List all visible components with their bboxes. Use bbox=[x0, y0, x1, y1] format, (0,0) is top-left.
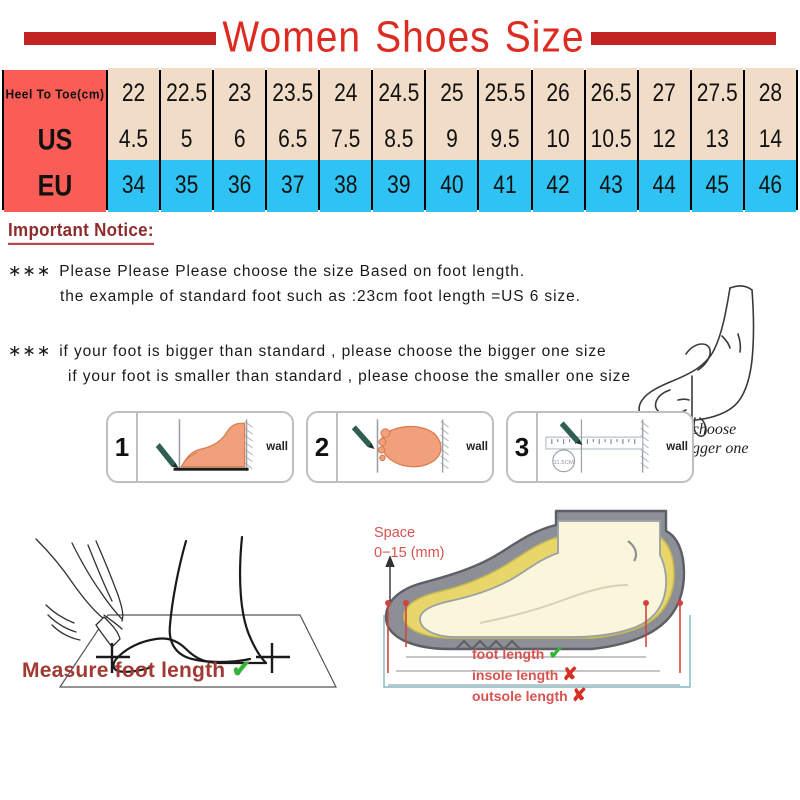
check-icon-foot-length: ✔ bbox=[548, 643, 563, 663]
notice-paragraph-1: ∗∗∗Please Please Please choose the size … bbox=[8, 259, 800, 309]
measurement-steps: 1 wall 2 bbox=[0, 411, 800, 483]
cell-eu-6: 40 bbox=[425, 159, 478, 213]
cell-eu-10: 44 bbox=[638, 159, 691, 213]
title-bar-right bbox=[591, 32, 776, 45]
step-3-illustration: 11.5CM wall bbox=[538, 413, 692, 481]
asterisks-icon-2: ∗∗∗ bbox=[8, 343, 51, 360]
bottom-illustrations: Measure foot length✔ bbox=[0, 497, 800, 712]
notice-line-1: ∗∗∗Please Please Please choose the size … bbox=[8, 259, 800, 284]
step-number-1: 1 bbox=[108, 413, 138, 481]
page-title-word-1: Women bbox=[222, 13, 361, 61]
row-header-heel-to-toe: Heel To Toe(cm) bbox=[3, 69, 107, 120]
cell-eu-3: 37 bbox=[266, 159, 319, 213]
green-check-icon: ✔ bbox=[231, 656, 251, 683]
size-table-wrapper: Heel To Toe(cm) 22 22.5 23 23.5 24 24.5 … bbox=[0, 70, 800, 210]
cross-icon-insole-length: ✘ bbox=[562, 664, 577, 684]
step-number-3: 3 bbox=[508, 413, 538, 481]
foot-length-label: foot length✔ bbox=[472, 643, 587, 664]
step-panel-3: 3 bbox=[506, 411, 694, 483]
cell-eu-11: 45 bbox=[691, 159, 744, 213]
measure-foot-length-caption: Measure foot length✔ bbox=[22, 655, 252, 684]
length-labels: foot length✔ insole length✘ outsole leng… bbox=[472, 643, 587, 706]
notice-paragraph-2: ∗∗∗if your foot is bigger than standard … bbox=[8, 339, 800, 389]
outsole-length-label: outsole length✘ bbox=[472, 685, 587, 706]
cell-eu-5: 39 bbox=[372, 159, 425, 213]
measure-caption-text: Measure foot length bbox=[22, 659, 225, 682]
asterisks-icon: ∗∗∗ bbox=[8, 263, 51, 280]
space-label-line-1: Space bbox=[374, 523, 445, 543]
step-number-2: 2 bbox=[308, 413, 338, 481]
page-title: WomenShoesSize bbox=[222, 13, 584, 62]
notice-line-3: ∗∗∗if your foot is bigger than standard … bbox=[8, 339, 800, 364]
cell-eu-0: 34 bbox=[107, 159, 160, 213]
notice-line-1-text: Please Please Please choose the size Bas… bbox=[59, 263, 525, 280]
wall-label-2: wall bbox=[466, 441, 488, 453]
notice-spacer bbox=[8, 309, 800, 325]
page-title-row: WomenShoesSize bbox=[0, 0, 800, 70]
svg-text:11.5CM: 11.5CM bbox=[554, 460, 574, 466]
page-title-word-3: Size bbox=[505, 13, 585, 61]
notice-line-3-text: if your foot is bigger than standard , p… bbox=[59, 343, 606, 360]
cell-eu-12: 46 bbox=[744, 159, 797, 213]
row-header-eu: EU bbox=[3, 159, 107, 213]
important-notice-section: Important Notice: ∗∗∗Please Please Pleas… bbox=[0, 210, 800, 389]
wall-label-1: wall bbox=[266, 441, 288, 453]
cell-eu-1: 35 bbox=[160, 159, 213, 213]
insole-length-label: insole length✘ bbox=[472, 664, 587, 685]
insole-length-text: insole length bbox=[472, 667, 558, 683]
step-1-illustration: wall bbox=[138, 413, 292, 481]
notice-line-2: the example of standard foot such as :23… bbox=[8, 284, 800, 309]
page-title-word-2: Shoes bbox=[375, 13, 491, 61]
table-row-eu: EU 34 35 36 37 38 39 40 41 42 43 44 45 4… bbox=[3, 163, 797, 209]
cell-eu-4: 38 bbox=[319, 159, 372, 213]
foot-length-text: foot length bbox=[472, 646, 544, 662]
notice-line-4: if your foot is smaller than standard , … bbox=[8, 364, 800, 389]
measure-foot-length-illustration: Measure foot length✔ bbox=[0, 497, 360, 712]
important-notice-heading: Important Notice: bbox=[8, 220, 154, 245]
outsole-length-text: outsole length bbox=[472, 688, 568, 704]
title-bar-left bbox=[24, 32, 216, 45]
wall-label-3: wall bbox=[666, 441, 688, 453]
table-row-cm: Heel To Toe(cm) 22 22.5 23 23.5 24 24.5 … bbox=[3, 71, 797, 117]
step-2-illustration: wall bbox=[338, 413, 492, 481]
cross-icon-outsole-length: ✘ bbox=[572, 685, 587, 705]
space-label: Space 0−15 (mm) bbox=[374, 523, 445, 563]
step-panel-2: 2 wall bbox=[306, 411, 494, 483]
cell-eu-8: 42 bbox=[532, 159, 585, 213]
cell-eu-9: 43 bbox=[585, 159, 638, 213]
table-row-us: US 4.5 5 6 6.5 7.5 8.5 9 9.5 10 10.5 12 … bbox=[3, 117, 797, 163]
space-label-line-2: 0−15 (mm) bbox=[374, 543, 445, 563]
shoe-cross-section-illustration: Space 0−15 (mm) foot length✔ insole leng… bbox=[360, 497, 800, 712]
step-panel-1: 1 wall bbox=[106, 411, 294, 483]
cell-eu-2: 36 bbox=[213, 159, 266, 213]
size-conversion-table: Heel To Toe(cm) 22 22.5 23 23.5 24 24.5 … bbox=[2, 70, 798, 210]
cell-eu-7: 41 bbox=[478, 159, 531, 213]
